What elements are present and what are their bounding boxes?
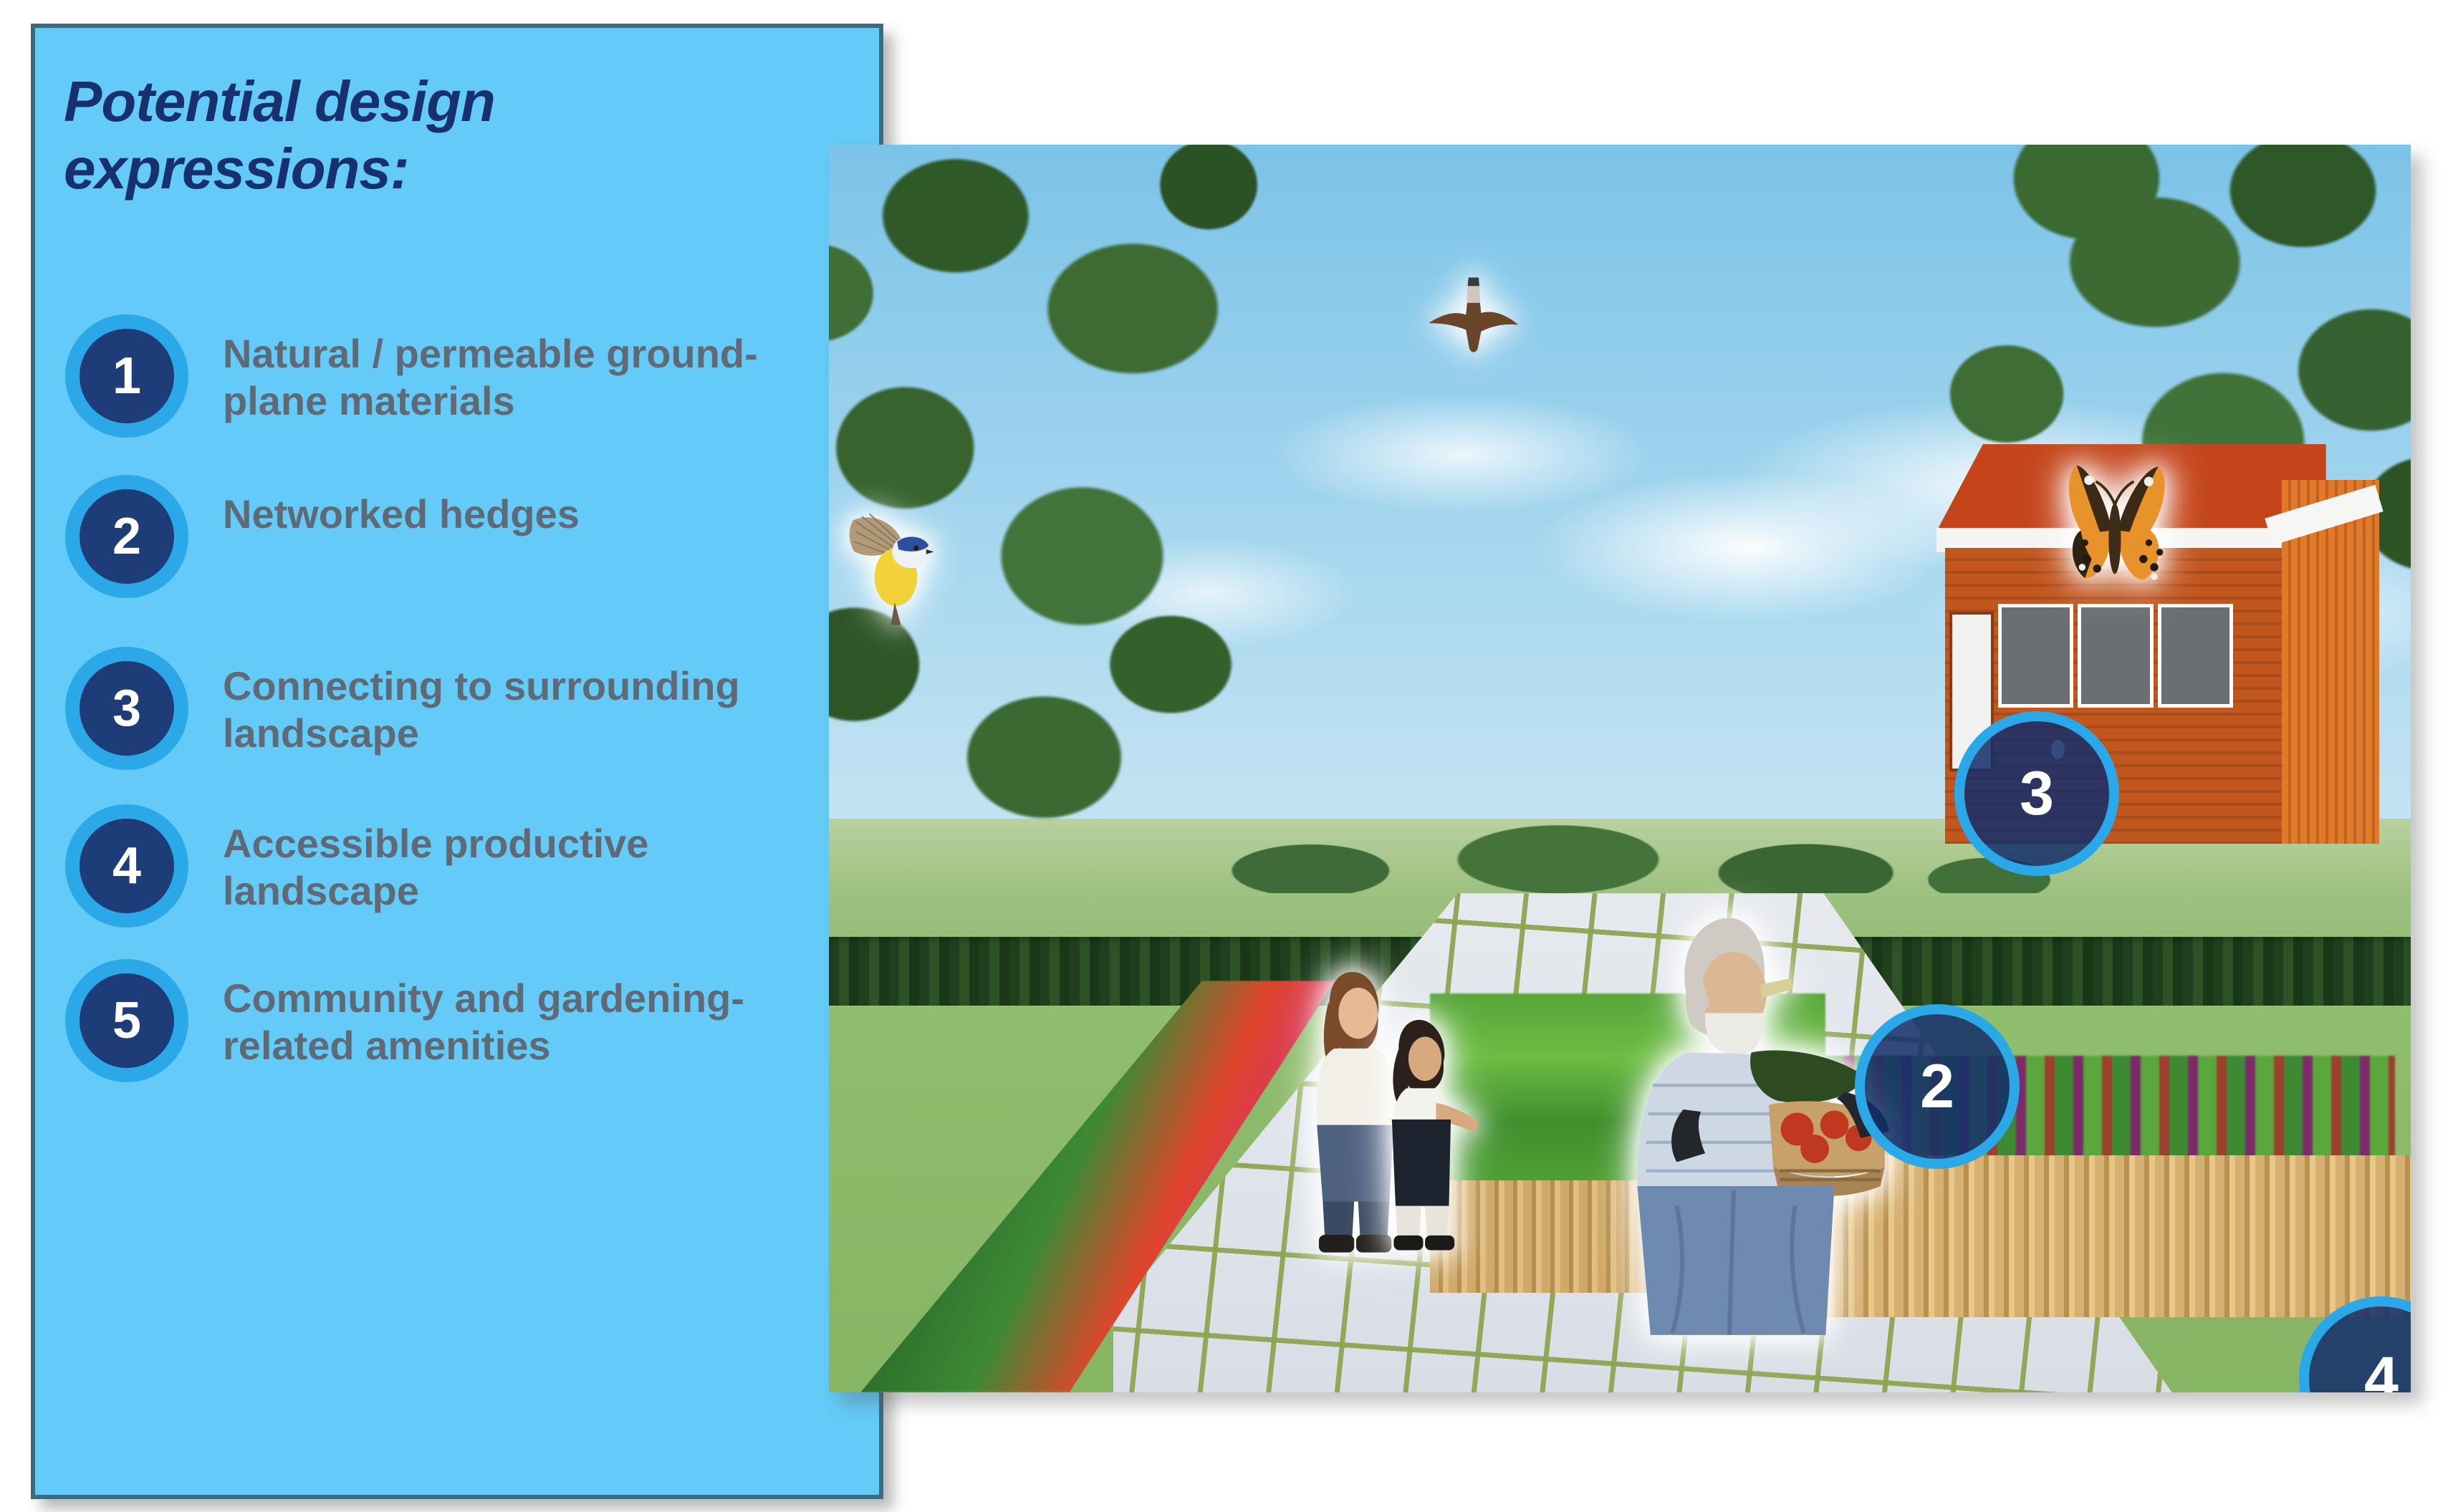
child-figure xyxy=(1383,968,1484,1293)
legend-item-2[interactable]: 2 Networked hedges xyxy=(65,475,853,598)
number-badge-1: 1 xyxy=(65,314,188,438)
slide-canvas: Potential design expressions: 1 Natural … xyxy=(0,0,2453,1512)
legend-item-3[interactable]: 3 Connecting to surrounding landscape xyxy=(65,647,853,770)
red-kite-bird-icon xyxy=(1422,269,1523,357)
legend-item-5[interactable]: 5 Community and gardening-related amenit… xyxy=(65,959,853,1082)
legend-item-4[interactable]: 4 Accessible productive landscape xyxy=(65,804,853,928)
legend-label-1: Natural / permeable ground-plane materia… xyxy=(223,314,796,425)
building-window xyxy=(2158,604,2233,708)
building-window xyxy=(1998,604,2073,708)
legend-item-1[interactable]: 1 Natural / permeable ground-plane mater… xyxy=(65,314,853,438)
legend-label-2: Networked hedges xyxy=(223,475,796,538)
legend-panel: Potential design expressions: 1 Natural … xyxy=(31,24,883,1499)
photomontage-image: 3 5 2 4 1 xyxy=(829,145,2411,1392)
legend-label-4: Accessible productive landscape xyxy=(223,804,796,915)
number-badge-4: 4 xyxy=(65,804,188,928)
number-badge-3: 3 xyxy=(65,647,188,770)
page-title: Potential design expressions: xyxy=(64,68,651,203)
butterfly-icon xyxy=(2047,457,2183,607)
blue-tit-bird-icon xyxy=(838,506,941,626)
legend-label-5: Community and gardening-related amenitie… xyxy=(223,959,796,1069)
number-badge-5: 5 xyxy=(65,959,188,1082)
legend-label-3: Connecting to surrounding landscape xyxy=(223,647,796,757)
photo-marker-3[interactable]: 3 xyxy=(1954,711,2119,876)
number-badge-2: 2 xyxy=(65,475,188,598)
legend-list: 1 Natural / permeable ground-plane mater… xyxy=(65,314,853,1119)
photo-marker-2[interactable]: 2 xyxy=(1855,1004,2020,1169)
building-window xyxy=(2078,604,2153,708)
